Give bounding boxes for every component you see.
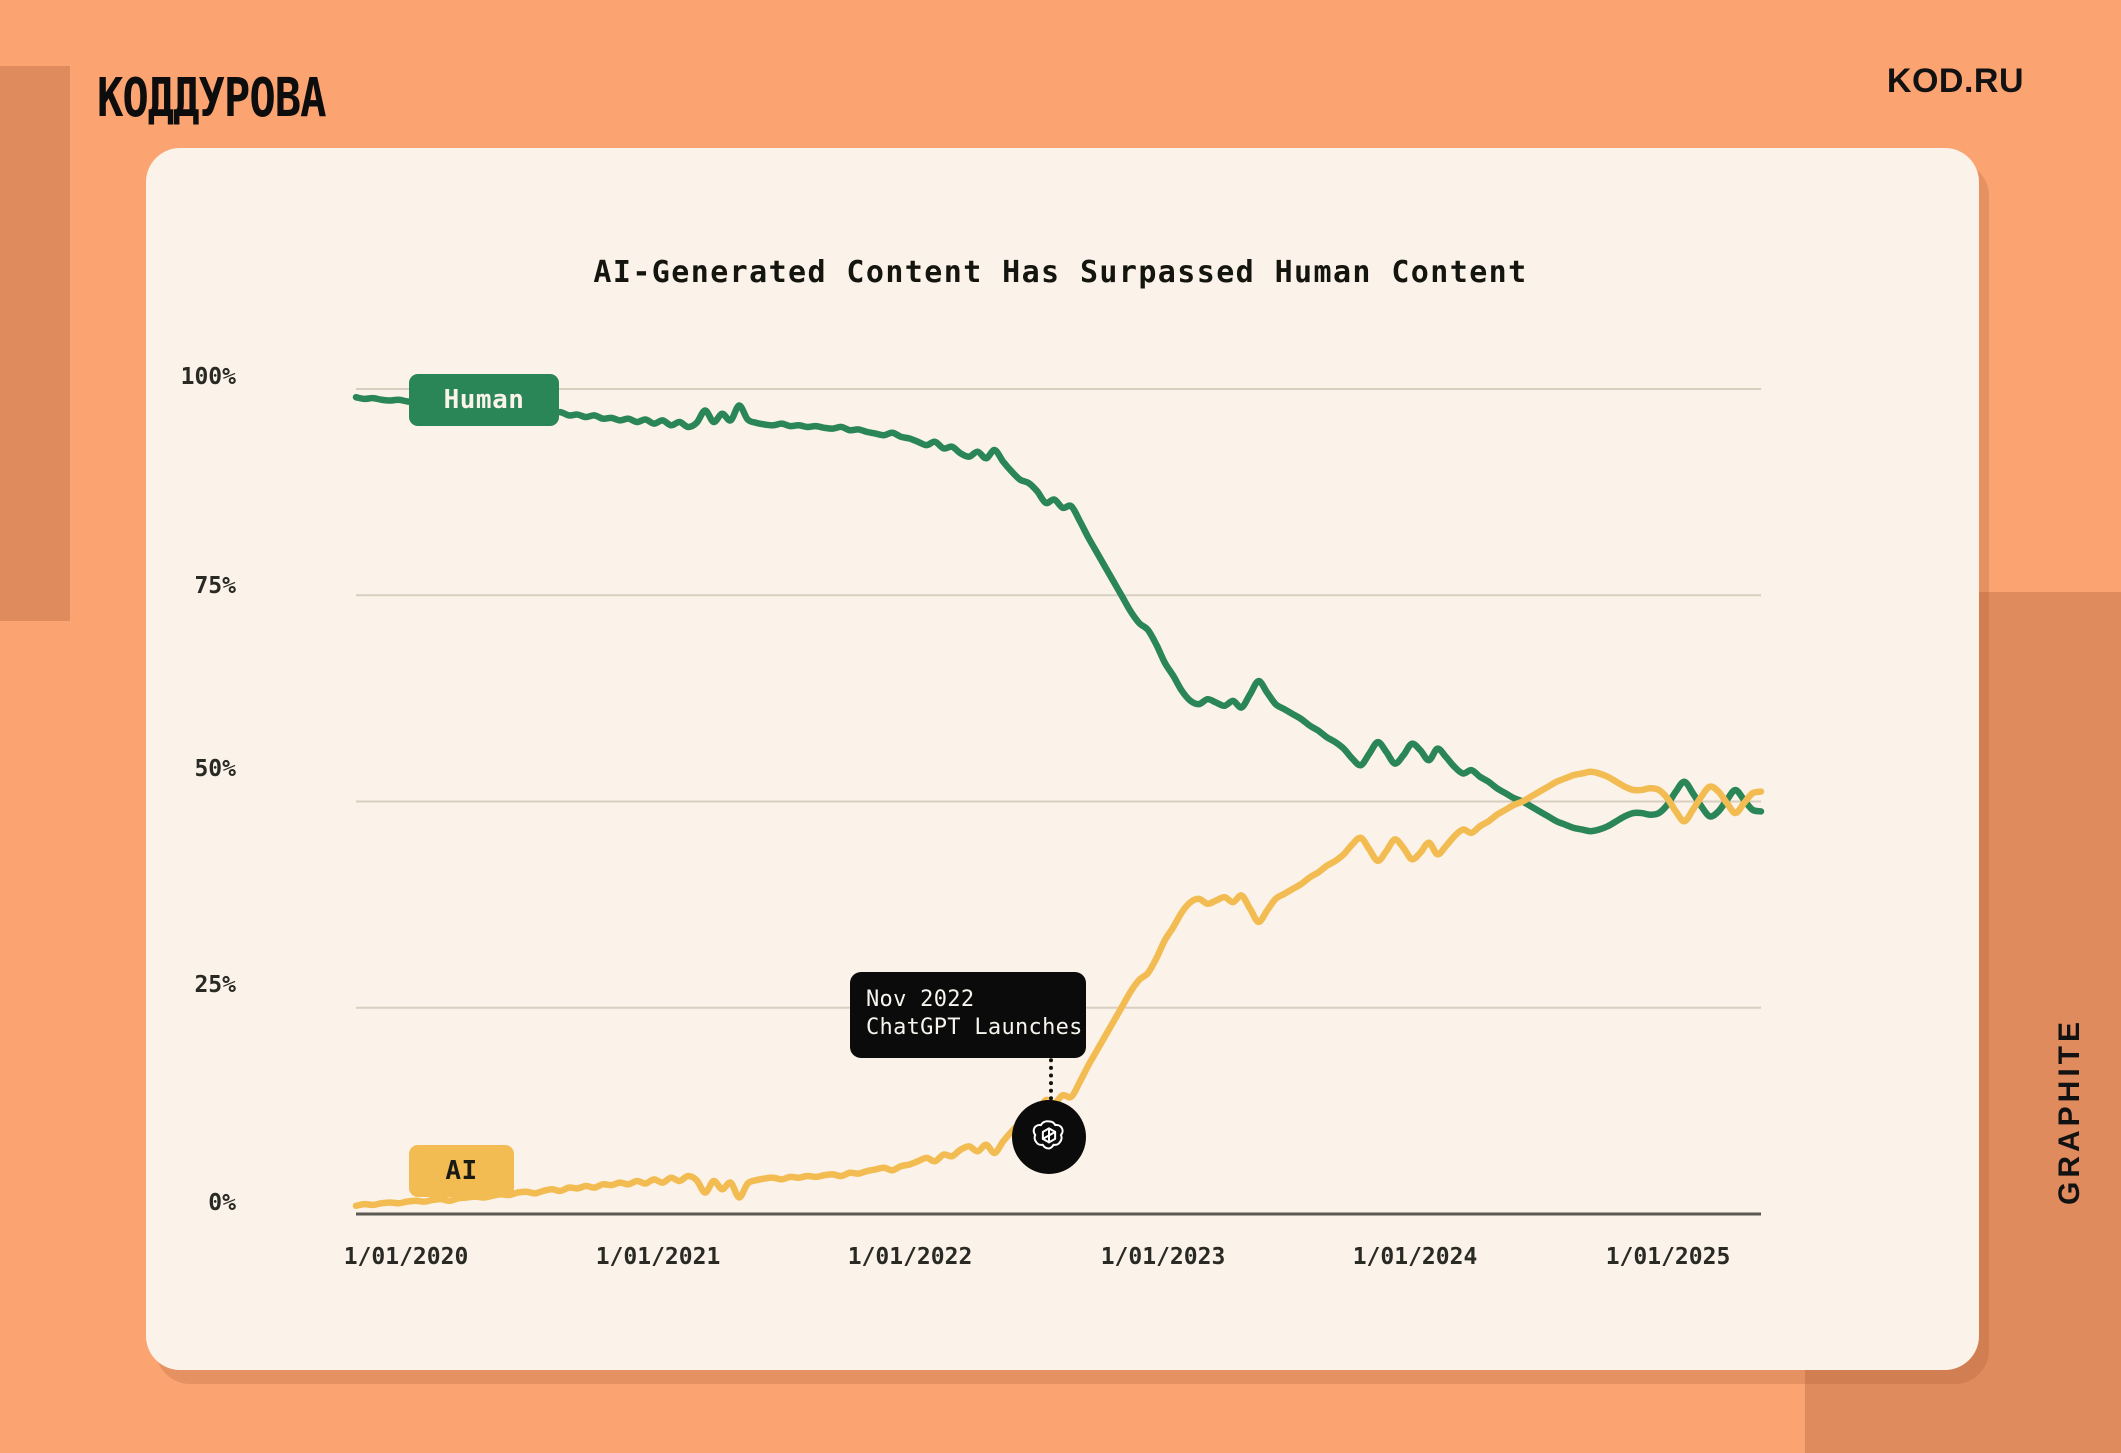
openai-logo-icon[interactable]: [1012, 1100, 1086, 1174]
graphite-wordmark: GRAPHITE: [2053, 1018, 2087, 1205]
legend-badge-ai[interactable]: AI: [409, 1145, 514, 1197]
x-tick-2020: 1/01/2020: [306, 1244, 506, 1270]
x-tick-2023: 1/01/2023: [1063, 1244, 1263, 1270]
y-tick-25: 25%: [126, 972, 236, 998]
legend-badge-human[interactable]: Human: [409, 374, 559, 426]
y-tick-75: 75%: [126, 573, 236, 599]
legend-label-human: Human: [444, 385, 525, 415]
chart-title: AI-Generated Content Has Surpassed Human…: [0, 255, 2121, 290]
page-header: КОДДУРОВА KOD.RU: [0, 0, 2121, 148]
decorative-block-left: [0, 66, 70, 621]
y-tick-0: 0%: [126, 1190, 236, 1216]
y-tick-50: 50%: [126, 756, 236, 782]
legend-label-ai: AI: [445, 1156, 477, 1186]
x-tick-2025: 1/01/2025: [1568, 1244, 1768, 1270]
y-tick-100: 100%: [126, 364, 236, 390]
site-label: KOD.RU: [1887, 62, 2024, 101]
annotation-date: Nov 2022: [866, 986, 1070, 1014]
annotation-text: ChatGPT Launches: [866, 1014, 1070, 1042]
x-tick-2021: 1/01/2021: [558, 1244, 758, 1270]
x-tick-2022: 1/01/2022: [810, 1244, 1010, 1270]
openai-glyph: [1028, 1116, 1070, 1158]
annotation-callout[interactable]: Nov 2022 ChatGPT Launches: [850, 972, 1086, 1058]
x-tick-2024: 1/01/2024: [1315, 1244, 1515, 1270]
brand-logo: КОДДУРОВА: [97, 67, 325, 130]
